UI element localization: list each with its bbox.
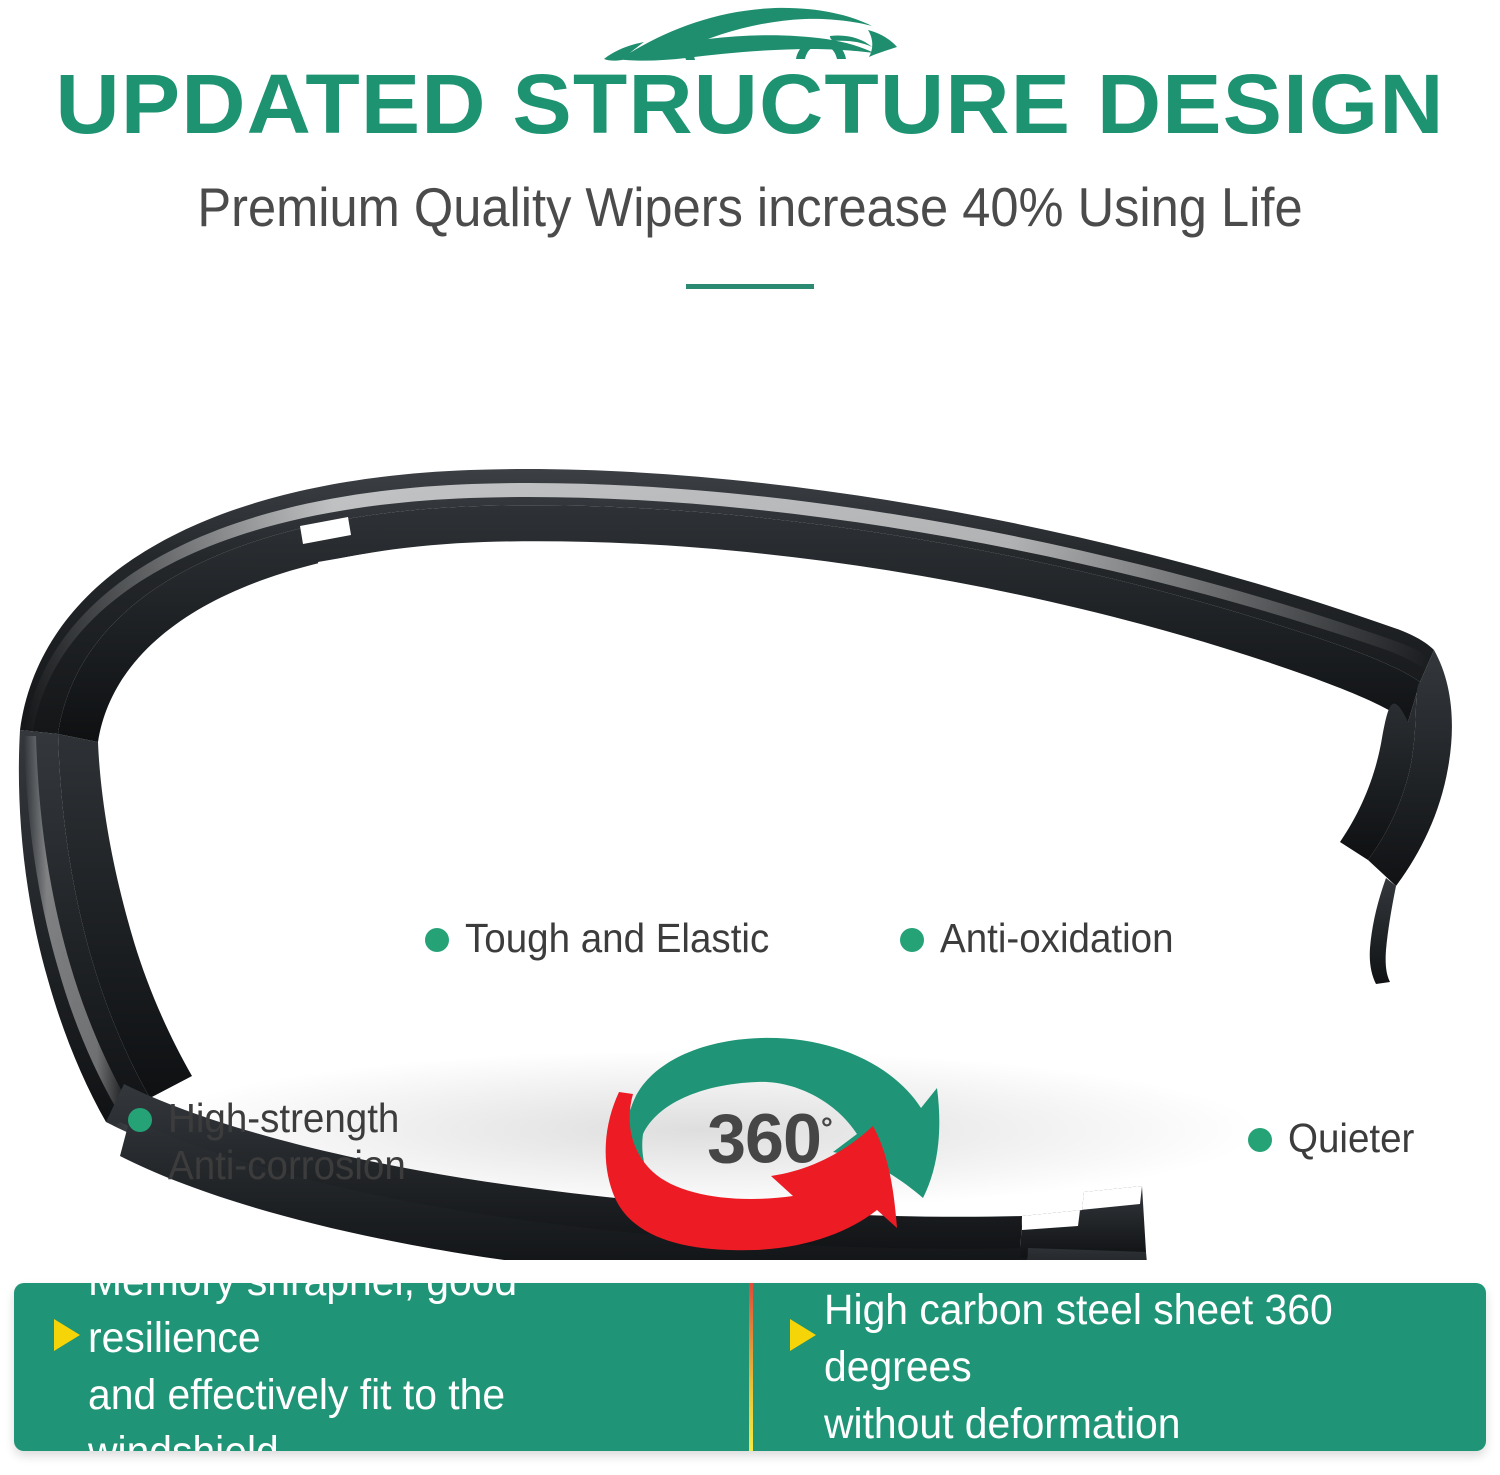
badge-degree-symbol: ° <box>821 1112 833 1145</box>
bullet-dot-icon <box>425 928 449 952</box>
bullet-dot-icon <box>128 1108 152 1132</box>
badge-360-degree: 360° <box>585 1030 955 1255</box>
callout-label: Quieter <box>1288 1115 1414 1162</box>
banner-panel-memory-shrapnel: Memory shrapnel, good resilienceand effe… <box>14 1283 750 1451</box>
product-stage: Tough and Elastic Anti-oxidation High-st… <box>0 330 1500 1260</box>
banner-line-2: and effectively fit to the windshield <box>88 1367 692 1451</box>
banner-text-group: Memory shrapnel, good resilienceand effe… <box>88 1283 692 1451</box>
banner-divider <box>749 1283 753 1451</box>
callout-anti-oxidation: Anti-oxidation <box>900 915 1188 962</box>
callout-quieter: Quieter <box>1248 1115 1422 1162</box>
banner-text-group: High carbon steel sheet 360 degreeswitho… <box>824 1283 1428 1451</box>
callout-label: Anti-oxidation <box>940 915 1174 962</box>
triangle-arrow-icon <box>54 1319 80 1351</box>
header: UPDATED STRUCTURE DESIGN Premium Quality… <box>0 0 1500 310</box>
badge-number: 360 <box>707 1099 821 1177</box>
callout-label-line2: Anti-corrosion <box>168 1142 406 1189</box>
callout-tough-and-elastic: Tough and Elastic <box>425 915 789 962</box>
badge-360-label: 360° <box>585 1092 955 1175</box>
page-subtitle: Premium Quality Wipers increase 40% Usin… <box>60 174 1440 240</box>
banner-line-2: without deformation <box>824 1396 1428 1452</box>
page-title: UPDATED STRUCTURE DESIGN <box>0 58 1500 150</box>
callout-label-group: High-strengthAnti-corrosion <box>168 1095 406 1189</box>
bullet-dot-icon <box>900 928 924 952</box>
bullet-dot-icon <box>1248 1128 1272 1152</box>
banner-line-1: High carbon steel sheet 360 degrees <box>824 1286 1333 1391</box>
callout-label-line1: High-strength <box>168 1095 399 1141</box>
title-divider <box>686 284 814 289</box>
callout-label: Tough and Elastic <box>465 915 769 962</box>
banner-line-1: Memory shrapnel, good resilience <box>88 1283 517 1362</box>
banner-panel-high-carbon-steel: High carbon steel sheet 360 degreeswitho… <box>750 1283 1486 1451</box>
callout-high-strength-anti-corrosion: High-strengthAnti-corrosion <box>128 1095 421 1189</box>
car-silhouette-icon <box>600 6 900 64</box>
bottom-feature-banner: Memory shrapnel, good resilienceand effe… <box>14 1283 1486 1451</box>
triangle-arrow-icon <box>790 1319 816 1351</box>
